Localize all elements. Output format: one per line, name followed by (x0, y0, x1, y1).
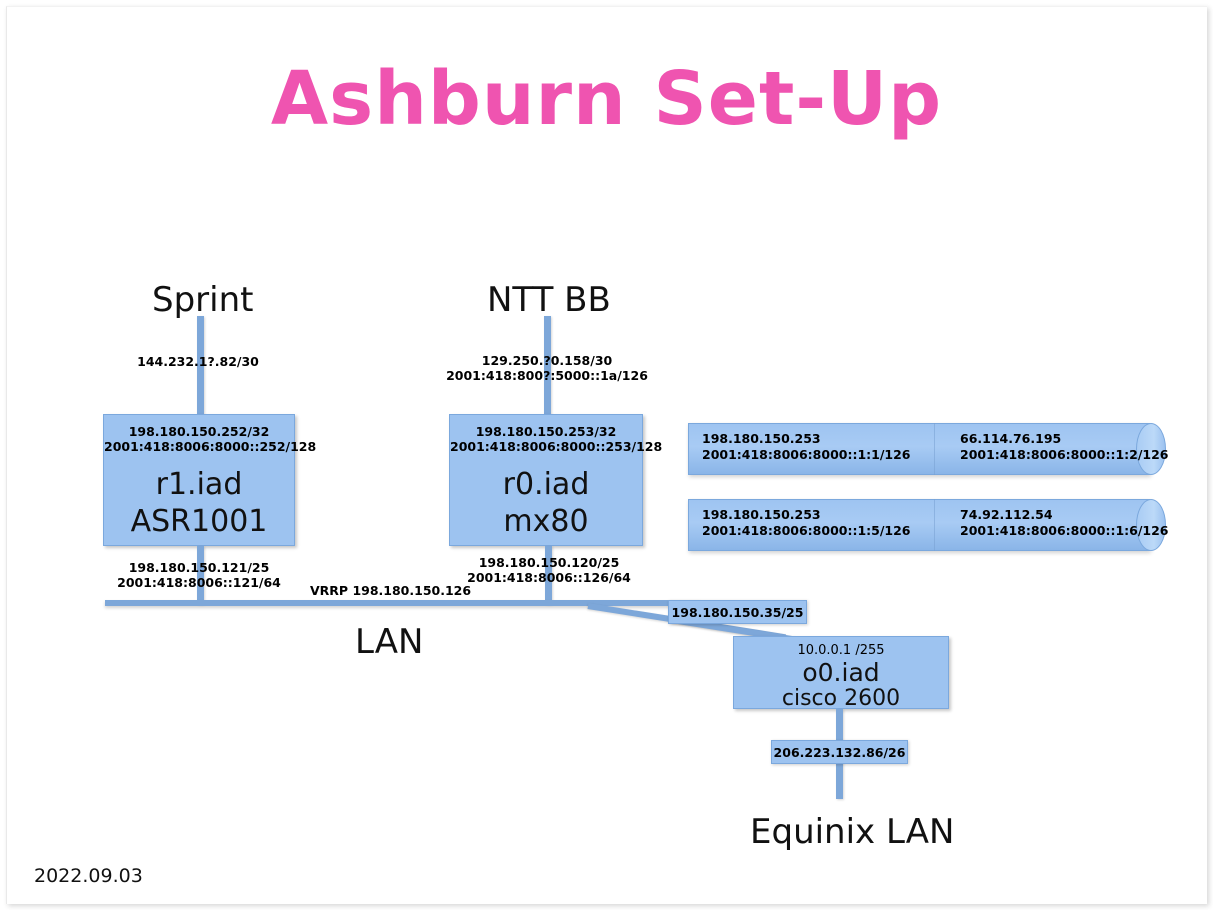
peering-link-2-divider (934, 499, 935, 551)
device-o0-inside-address: 10.0.0.1 /255 (734, 643, 948, 658)
chip-lan-uplink-address[interactable]: 198.180.150.35/25 (668, 600, 807, 624)
downstream-label-equinix: Equinix LAN (750, 812, 954, 852)
upstream-label-sprint: Sprint (152, 280, 253, 320)
device-r1-iad[interactable]: 198.180.150.252/32 2001:418:8006:8000::2… (103, 414, 295, 546)
device-r0-model: mx80 (450, 504, 642, 539)
peering-link-1[interactable]: 198.180.150.253 2001:418:8006:8000::1:1/… (688, 423, 1166, 475)
lan-address-r1-v6: 2001:418:8006::121/64 (64, 575, 334, 590)
link-address-ntt-v6: 2001:418:800?:5000::1a/126 (412, 368, 682, 383)
device-r1-loopback-v4: 198.180.150.252/32 (104, 424, 294, 439)
device-r1-hostname: r1.iad (104, 467, 294, 502)
device-o0-iad[interactable]: 10.0.0.1 /255 o0.iad cisco 2600 (733, 636, 949, 709)
date-stamp: 2022.09.03 (34, 865, 143, 887)
vrrp-label: VRRP 198.180.150.126 (310, 583, 460, 598)
peering-link-1-divider (934, 423, 935, 475)
device-r0-loopback-v6: 2001:418:8006:8000::253/128 (450, 439, 642, 454)
device-r1-loopback-v6: 2001:418:8006:8000::252/128 (104, 439, 294, 454)
peering-1-remote-v4: 66.114.76.195 (960, 431, 1061, 447)
device-r1-model: ASR1001 (104, 504, 294, 539)
peering-1-remote-v6: 2001:418:8006:8000::1:2/126 (960, 447, 1169, 463)
device-r0-iad[interactable]: 198.180.150.253/32 2001:418:8006:8000::2… (449, 414, 643, 546)
page-title: Ashburn Set-Up (0, 56, 1213, 142)
peering-1-local-v6: 2001:418:8006:8000::1:1/126 (702, 447, 911, 463)
link-address-sprint: 144.232.1?.82/30 (63, 354, 333, 369)
peering-2-remote-v6: 2001:418:8006:8000::1:6/126 (960, 523, 1169, 539)
slide-canvas: Ashburn Set-Up Sprint 144.232.1?.82/30 N… (0, 0, 1213, 910)
peering-2-local-v6: 2001:418:8006:8000::1:5/126 (702, 523, 911, 539)
chip-equinix-address[interactable]: 206.223.132.86/26 (771, 740, 908, 764)
upstream-label-ntt: NTT BB (487, 280, 611, 320)
link-address-ntt-v4: 129.250.?0.158/30 (412, 353, 682, 368)
device-o0-model: cisco 2600 (734, 686, 948, 711)
lan-address-r0-v4: 198.180.150.120/25 (414, 555, 684, 570)
lan-address-r1-v4: 198.180.150.121/25 (64, 560, 334, 575)
lan-label: LAN (355, 622, 423, 662)
device-o0-hostname: o0.iad (734, 658, 948, 687)
peering-2-remote-v4: 74.92.112.54 (960, 507, 1053, 523)
device-r0-hostname: r0.iad (450, 467, 642, 502)
peering-1-local-v4: 198.180.150.253 (702, 431, 821, 447)
lan-bus-line (105, 600, 700, 606)
peering-2-local-v4: 198.180.150.253 (702, 507, 821, 523)
peering-link-2[interactable]: 198.180.150.253 2001:418:8006:8000::1:5/… (688, 499, 1166, 551)
device-r0-loopback-v4: 198.180.150.253/32 (450, 424, 642, 439)
